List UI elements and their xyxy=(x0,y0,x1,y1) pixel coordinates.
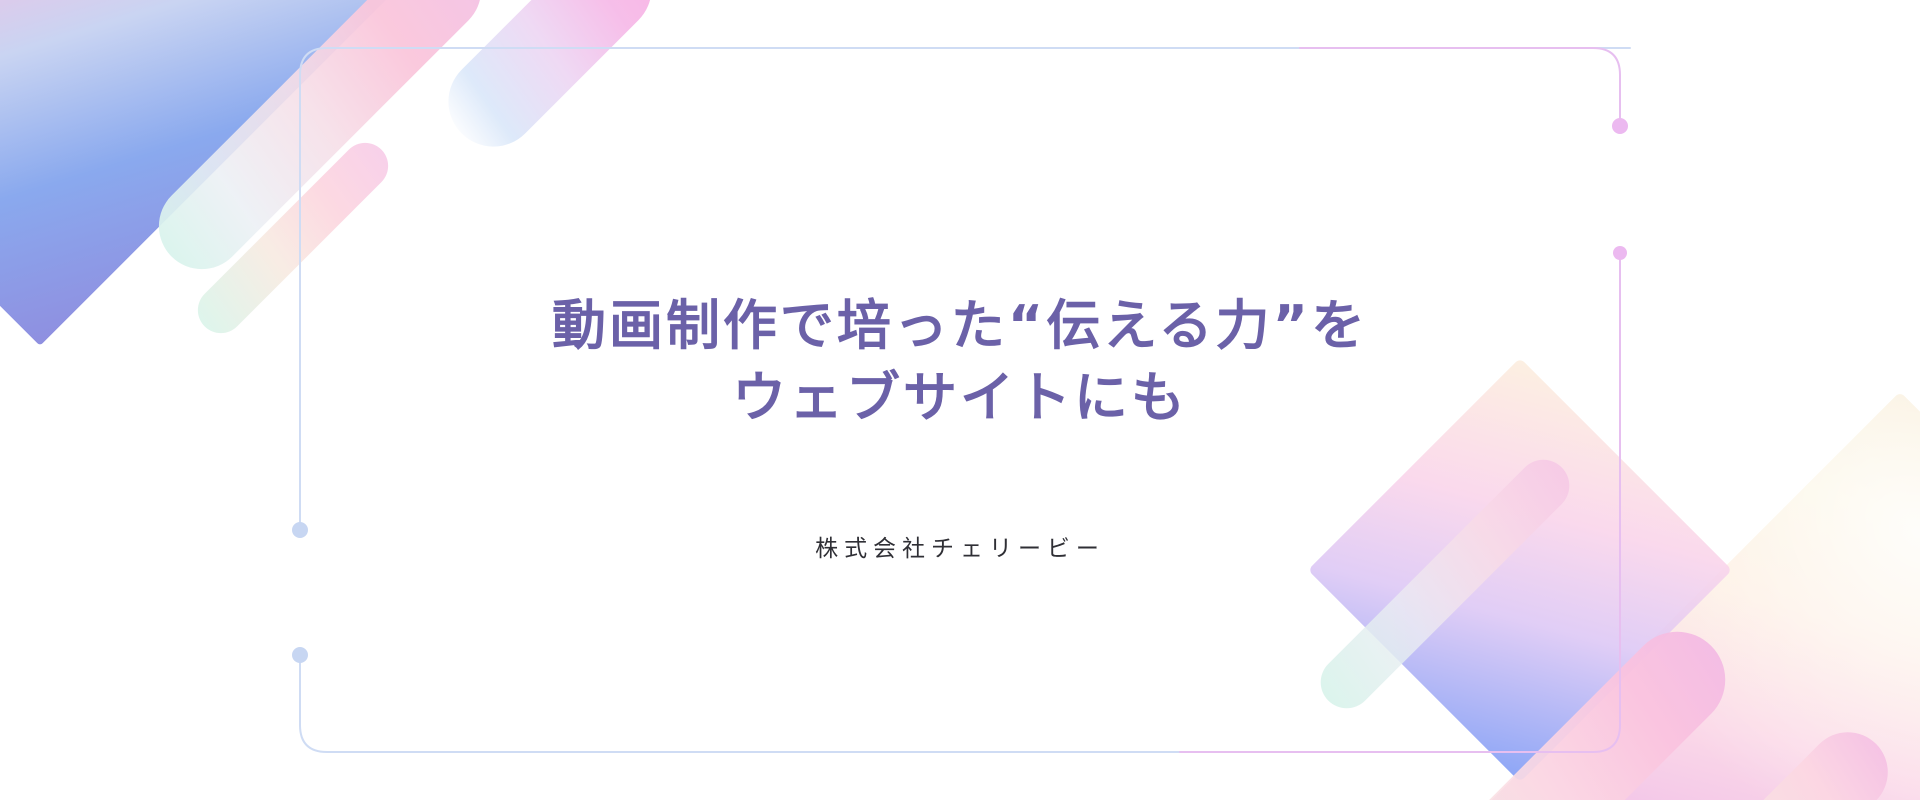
page-title: 動画制作で培った“伝える力”を ウェブサイトにも xyxy=(552,0,1368,435)
headline-line-2: ウェブサイトにも xyxy=(552,362,1368,434)
hero-slide: 動画制作で培った“伝える力”を ウェブサイトにも 株式会社チェリービー xyxy=(0,0,1920,800)
slide-content: 動画制作で培った“伝える力”を ウェブサイトにも 株式会社チェリービー xyxy=(0,0,1920,800)
company-name: 株式会社チェリービー xyxy=(815,435,1105,563)
headline-line-1: 動画制作で培った“伝える力”を xyxy=(552,290,1368,362)
